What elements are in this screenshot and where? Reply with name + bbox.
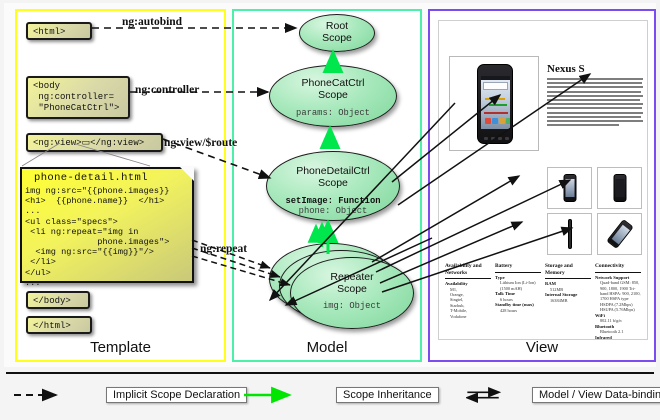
phone-statusbar xyxy=(481,76,510,80)
spec-sub-infrared: Infrared xyxy=(595,335,641,340)
scope-root[interactable]: RootScope xyxy=(299,14,375,52)
article-body-text xyxy=(547,78,643,128)
spec-column-battery: Battery Type Lithium Ion (Li-Ion)(1500 m… xyxy=(495,263,541,340)
dock-icon-1 xyxy=(485,118,491,124)
green-arrow-icon xyxy=(242,385,330,405)
panel-view-label: View xyxy=(430,339,654,356)
spec-divider xyxy=(545,278,591,279)
code-box-body-close[interactable]: </body> xyxy=(26,291,90,309)
spec-val-availability: M1,Orange,Singtel,Starhub,T-Mobile,Vodaf… xyxy=(445,287,491,319)
scope-phonecatctrl[interactable]: PhoneCatCtrlScope params: Object xyxy=(269,65,397,127)
panel-model-label: Model xyxy=(234,339,420,356)
phone-urlbar xyxy=(483,82,508,90)
diagram-frame: Template <html> <body ng:controller= "Ph… xyxy=(4,3,656,367)
thumbnail-phone-angled xyxy=(606,219,633,249)
hero-image-frame[interactable] xyxy=(449,56,539,151)
code-box-body-open[interactable]: <body ng:controller= "PhoneCatCtrl"> xyxy=(26,76,130,119)
phone-btn-menu xyxy=(498,137,502,140)
spec-column-battery-head: Battery xyxy=(495,263,541,270)
spec-val-battery-type: Lithium Ion (Li-Ion)(1500 mAH) xyxy=(495,280,541,291)
thumbnail-back[interactable] xyxy=(597,167,642,209)
spec-table: Availability andNetworks Availability M1… xyxy=(445,263,643,340)
phone-btn-home xyxy=(491,137,495,140)
thumbnail-phone-side xyxy=(568,219,572,249)
scope-phonedetailctrl-title: PhoneDetailCtrlScope xyxy=(267,152,399,189)
legend-item-scope-inheritance: Scope Inheritance xyxy=(242,385,439,405)
code-box-ngview[interactable]: <ng:view>▭</ng:view> xyxy=(26,133,163,152)
sticky-note-phone-detail[interactable]: phone-detail.html img ng:src="{{phone.im… xyxy=(20,167,194,283)
scope-phonedetailctrl-prop-phone: phone: Object xyxy=(267,206,399,216)
code-box-html-open[interactable]: <html> xyxy=(26,22,92,40)
spec-column-availability: Availability andNetworks Availability M1… xyxy=(445,263,491,340)
legend-label-implicit-scope: Implicit Scope Declaration xyxy=(106,387,247,403)
connection-label-view-route: ng:view/$route xyxy=(164,137,237,149)
dock-icon-4 xyxy=(506,118,510,124)
phone-stripe-green xyxy=(489,104,507,106)
spec-val-network: Quad-band GSM: 850,900, 1800, 1900 Tri-b… xyxy=(595,280,641,312)
thumbnail-phone-front xyxy=(563,174,576,202)
article-title: Nexus S xyxy=(547,63,585,75)
code-box-html-close[interactable]: </html> xyxy=(26,316,92,334)
panel-template-label: Template xyxy=(17,339,224,356)
scope-phonecatctrl-prop-params: params: Object xyxy=(270,108,396,118)
double-arrow-icon xyxy=(466,385,526,405)
legend-item-data-binding: Model / View Data-binding xyxy=(466,385,660,405)
dock-icon-3 xyxy=(499,118,505,124)
legend-label-data-binding: Model / View Data-binding xyxy=(532,387,660,403)
phone-button-row xyxy=(482,135,510,141)
legend-divider xyxy=(6,372,654,374)
phone-screen xyxy=(481,76,510,129)
connection-label-repeat: ng:repeat xyxy=(200,243,247,255)
thumbnail-angled[interactable] xyxy=(597,213,642,255)
spec-column-connectivity: Connectivity Network Support Quad-band G… xyxy=(595,263,641,340)
phone-device-image xyxy=(477,64,513,144)
thumbnail-front[interactable] xyxy=(547,167,592,209)
sticky-fold-corner xyxy=(180,167,194,181)
sticky-note-title: phone-detail.html xyxy=(22,169,192,186)
spec-column-availability-head: Availability andNetworks xyxy=(445,263,491,276)
scope-repeater[interactable]: RepeaterScope img: Object xyxy=(290,257,414,329)
legend-item-implicit-scope: Implicit Scope Declaration xyxy=(12,385,247,405)
spec-divider xyxy=(595,272,641,273)
phone-stripe-red xyxy=(484,112,508,114)
sticky-note-code: img ng:src="{{phone.images}} <h1> {{phon… xyxy=(22,186,192,288)
scope-phonecatctrl-title: PhoneCatCtrlScope xyxy=(270,66,396,101)
spec-column-connectivity-head: Connectivity xyxy=(595,263,641,270)
thumbnail-phone-back xyxy=(613,174,626,202)
dock-icon-2 xyxy=(492,118,498,124)
thumbnail-side[interactable] xyxy=(547,213,592,255)
scope-phonedetailctrl-prop-setimage: setImage: Function xyxy=(267,196,399,206)
phone-btn-back xyxy=(484,137,488,140)
diagram-canvas: Template <html> <body ng:controller= "Ph… xyxy=(0,0,660,420)
spec-val-internal-storage: 16384MB xyxy=(545,298,591,303)
scope-repeater-prop-img: img: Object xyxy=(291,301,413,311)
phone-btn-search xyxy=(505,137,509,140)
dashed-arrow-icon xyxy=(12,385,100,405)
connection-label-autobind: ng:autobind xyxy=(122,16,182,28)
phone-app-dock xyxy=(484,117,510,126)
scope-root-title: RootScope xyxy=(300,15,374,44)
scope-repeater-title: RepeaterScope xyxy=(291,258,413,295)
connection-label-controller: ng:controller xyxy=(135,84,199,96)
spec-divider xyxy=(495,272,541,273)
phone-stripe-yellow xyxy=(485,98,505,100)
spec-column-storage: Storage and Memory RAM 512MB Internal St… xyxy=(545,263,591,340)
spec-column-storage-head: Storage and Memory xyxy=(545,263,591,276)
legend-label-scope-inheritance: Scope Inheritance xyxy=(336,387,439,403)
scope-phonedetailctrl[interactable]: PhoneDetailCtrlScope setImage: Function … xyxy=(266,151,400,221)
spec-val-battery-standby: 428 hours xyxy=(495,308,541,313)
rendered-web-page: Nexus S xyxy=(438,20,648,340)
spec-divider xyxy=(445,278,491,279)
